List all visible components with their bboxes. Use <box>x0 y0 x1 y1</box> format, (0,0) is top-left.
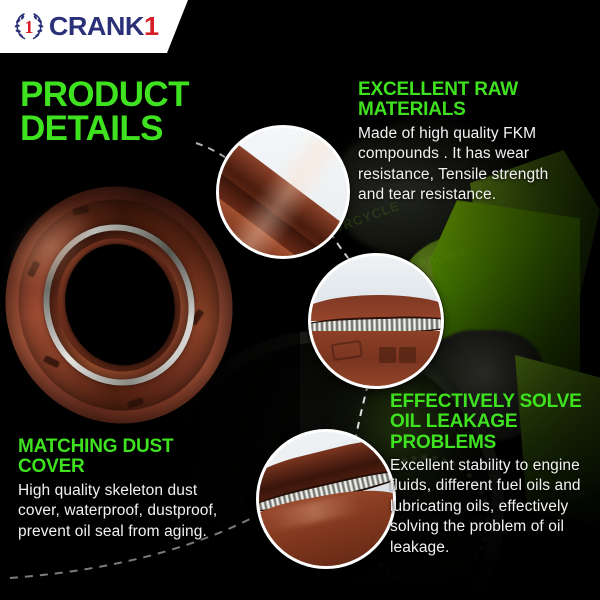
product-details-poster: MOTORCYCLE RACING <box>0 0 600 600</box>
feature-body-oil-leakage: Excellent stability to engine fluids, di… <box>390 456 588 558</box>
callout-seal-material-closeup[interactable] <box>216 125 350 259</box>
feature-block-raw-materials: EXCELLENT RAW MATERIALS Made of high qua… <box>358 80 573 205</box>
feature-body-dust-cover: High quality skeleton dust cover, waterp… <box>18 481 233 542</box>
laurel-wreath-number-one-icon: 1 <box>12 10 46 42</box>
callout-seal-spring-closeup[interactable] <box>308 253 444 389</box>
feature-body-raw-materials: Made of high quality FKM compounds . It … <box>358 124 573 206</box>
page-title-line-1: PRODUCT <box>20 78 235 112</box>
feature-heading-raw-materials: EXCELLENT RAW MATERIALS <box>358 80 573 121</box>
seal-marking <box>379 347 396 363</box>
svg-text:1: 1 <box>25 17 34 37</box>
page-title-line-2: DETAILS <box>20 112 235 146</box>
feature-block-oil-leakage: EFFECTIVELY SOLVE OIL LEAKAGE PROBLEMS E… <box>390 392 588 558</box>
brand-name-accent: 1 <box>144 11 159 41</box>
brand-name-main: CRANK <box>49 11 144 41</box>
feature-heading-dust-cover: MATCHING DUST COVER <box>18 437 233 478</box>
brand-name: CRANK1 <box>49 13 159 39</box>
brand-logo[interactable]: 1 CRANK1 <box>12 9 156 43</box>
page-title: PRODUCT DETAILS <box>20 78 235 145</box>
seal-lower-face <box>308 331 444 389</box>
feature-block-dust-cover: MATCHING DUST COVER High quality skeleto… <box>18 437 233 542</box>
seal-marking <box>399 347 416 363</box>
callout-seal-rim-closeup[interactable] <box>256 429 396 569</box>
feature-heading-oil-leakage: EFFECTIVELY SOLVE OIL LEAKAGE PROBLEMS <box>390 392 588 453</box>
